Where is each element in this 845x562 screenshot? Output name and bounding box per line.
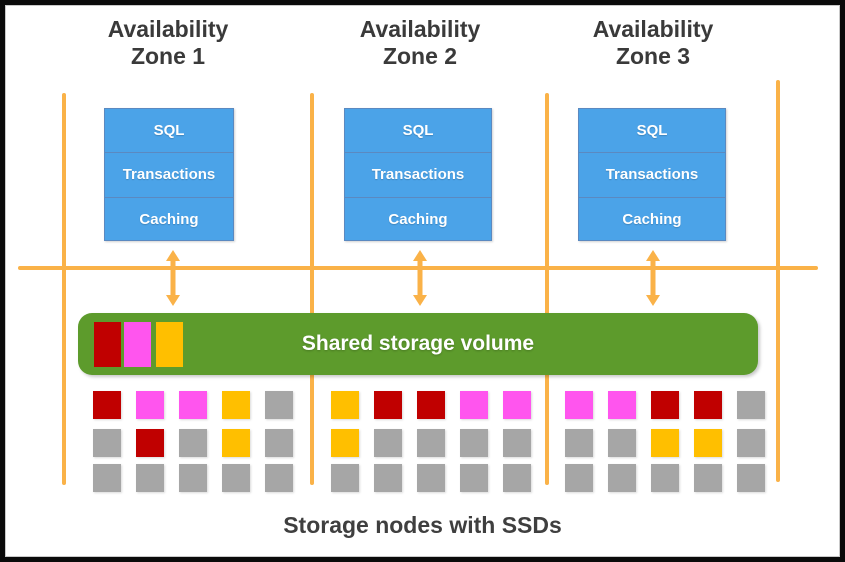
stack-layer-transactions: Transactions	[579, 153, 725, 197]
storage-node-cell	[222, 464, 250, 492]
storage-node-cell	[694, 391, 722, 419]
storage-node-cell	[136, 429, 164, 457]
stack-layer-transactions: Transactions	[105, 153, 233, 197]
double-arrow-zone-2	[412, 250, 428, 306]
storage-node-cell	[417, 464, 445, 492]
storage-node-cell	[651, 429, 679, 457]
stack-layer-caching: Caching	[579, 198, 725, 242]
storage-node-cell	[694, 429, 722, 457]
diagram-canvas: Availability Zone 1Availability Zone 2Av…	[0, 0, 845, 562]
storage-node-cell	[93, 464, 121, 492]
stack-layer-sql: SQL	[345, 109, 491, 153]
stack-layer-caching: Caching	[345, 198, 491, 242]
storage-node-cell	[374, 429, 402, 457]
storage-node-cell	[503, 429, 531, 457]
storage-node-cell	[136, 391, 164, 419]
storage-node-cell	[460, 429, 488, 457]
storage-node-cell	[136, 464, 164, 492]
storage-node-cell	[331, 464, 359, 492]
storage-node-cell	[460, 391, 488, 419]
storage-node-cell	[565, 429, 593, 457]
storage-node-cell	[265, 429, 293, 457]
storage-node-cell	[179, 429, 207, 457]
storage-node-cell	[222, 391, 250, 419]
diagram-caption: Storage nodes with SSDs	[0, 512, 845, 539]
storage-node-cell	[608, 464, 636, 492]
storage-node-cell	[460, 464, 488, 492]
storage-node-cell	[93, 391, 121, 419]
double-arrow-zone-1	[165, 250, 181, 306]
storage-node-cell	[374, 464, 402, 492]
storage-node-cell	[651, 464, 679, 492]
zone-title-3: Availability Zone 3	[553, 16, 753, 70]
stack-layer-transactions: Transactions	[345, 153, 491, 197]
storage-node-cell	[503, 464, 531, 492]
storage-node-cell	[222, 429, 250, 457]
storage-node-cell	[93, 429, 121, 457]
zone-title-1: Availability Zone 1	[68, 16, 268, 70]
db-instance-stack-zone-3: SQLTransactionsCaching	[578, 108, 726, 241]
stack-layer-sql: SQL	[579, 109, 725, 153]
storage-node-cell	[503, 391, 531, 419]
stack-layer-sql: SQL	[105, 109, 233, 153]
storage-node-cell	[608, 429, 636, 457]
storage-node-cell	[737, 429, 765, 457]
shared-storage-volume: Shared storage volume	[78, 313, 758, 375]
storage-node-cell	[331, 429, 359, 457]
storage-node-cell	[737, 464, 765, 492]
storage-node-cell	[694, 464, 722, 492]
stack-layer-caching: Caching	[105, 198, 233, 242]
zone-divider-line-1	[62, 93, 66, 485]
zone-divider-line-2	[310, 93, 314, 485]
storage-node-cell	[651, 391, 679, 419]
storage-node-cell	[331, 391, 359, 419]
shared-storage-volume-label: Shared storage volume	[78, 313, 758, 375]
storage-node-cell	[565, 464, 593, 492]
storage-node-cell	[265, 464, 293, 492]
double-arrow-zone-3	[645, 250, 661, 306]
db-instance-stack-zone-2: SQLTransactionsCaching	[344, 108, 492, 241]
zone-title-2: Availability Zone 2	[320, 16, 520, 70]
storage-node-cell	[417, 391, 445, 419]
storage-node-cell	[565, 391, 593, 419]
zone-divider-line-4	[776, 80, 780, 482]
storage-node-cell	[417, 429, 445, 457]
storage-node-cell	[265, 391, 293, 419]
storage-node-cell	[179, 391, 207, 419]
storage-node-cell	[179, 464, 207, 492]
zone-divider-line-3	[545, 93, 549, 485]
storage-node-cell	[737, 391, 765, 419]
storage-node-cell	[374, 391, 402, 419]
storage-node-cell	[608, 391, 636, 419]
db-instance-stack-zone-1: SQLTransactionsCaching	[104, 108, 234, 241]
